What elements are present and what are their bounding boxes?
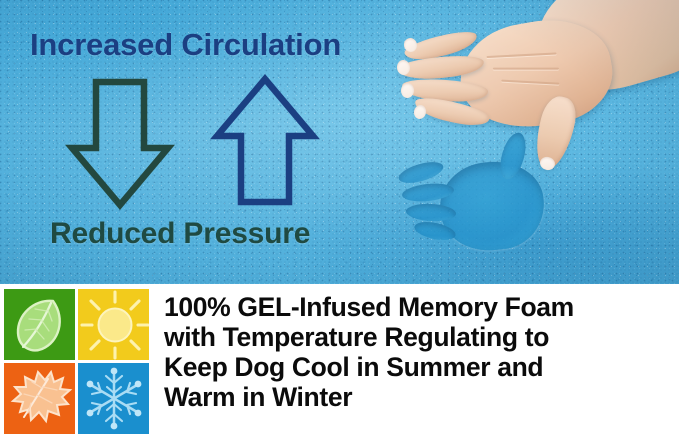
headline-line-1: 100% GEL-Infused Memory Foam [164,292,673,322]
four-seasons-icon-grid [4,289,150,435]
headline-line-2: with Temperature Regulating to [164,322,673,352]
product-headline: 100% GEL-Infused Memory Foam with Temper… [164,292,673,412]
product-info-panel: 100% GEL-Infused Memory Foam with Temper… [0,284,679,436]
foam-photo-panel: Increased Circulation Reduced Pressure [0,0,679,284]
maple-leaf-icon [4,363,75,434]
snowflake-icon [78,363,149,434]
season-tile-autumn [4,363,75,434]
season-tile-spring [4,289,75,360]
season-tile-summer [78,289,149,360]
headline-line-4: Warm in Winter [164,382,673,412]
reduced-pressure-label: Reduced Pressure [50,217,310,251]
product-infographic: Increased Circulation Reduced Pressure [0,0,679,436]
sun-icon [78,289,149,360]
increased-circulation-label: Increased Circulation [30,27,341,63]
headline-line-3: Keep Dog Cool in Summer and [164,352,673,382]
leaf-icon [4,289,75,360]
season-tile-winter [78,363,149,434]
